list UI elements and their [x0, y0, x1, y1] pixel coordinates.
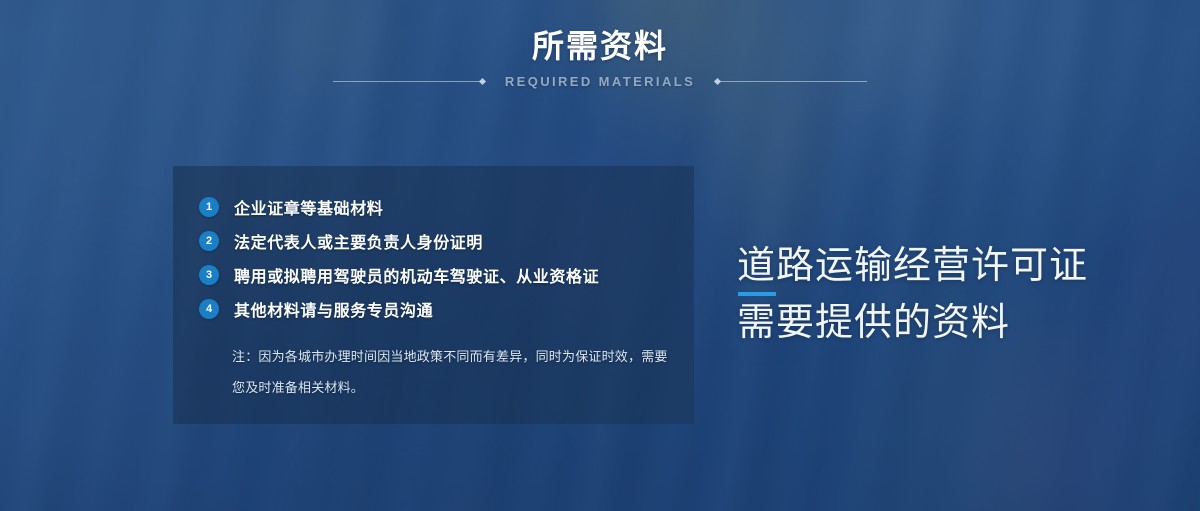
list-item: 1 企业证章等基础材料	[199, 190, 668, 224]
right-heading-line-1: 道路运输经营许可证	[737, 243, 1088, 289]
materials-panel: 1 企业证章等基础材料 2 法定代表人或主要负责人身份证明 3 聘用或拟聘用驾驶…	[173, 166, 694, 424]
list-number-badge: 3	[199, 265, 219, 285]
header-rule-right-dot	[714, 78, 721, 85]
header-rule-right	[715, 81, 867, 82]
right-heading-block: 道路运输经营许可证 需要提供的资料	[737, 243, 1088, 346]
list-item-label: 法定代表人或主要负责人身份证明	[234, 229, 483, 253]
list-number-badge: 2	[199, 231, 219, 251]
panel-note: 注：因为各城市办理时间因当地政策不同而有差异，同时为保证时效，需要您及时准备相关…	[232, 341, 680, 403]
list-item-label: 企业证章等基础材料	[234, 195, 383, 219]
list-number-badge: 1	[199, 197, 219, 217]
list-item: 4 其他材料请与服务专员沟通	[199, 292, 668, 326]
right-heading-accent-bar	[738, 292, 776, 296]
list-item-label: 其他材料请与服务专员沟通	[234, 297, 433, 321]
header-rule-left	[333, 81, 485, 82]
required-materials-banner: 所需资料 REQUIRED MATERIALS 1 企业证章等基础材料 2 法定…	[0, 0, 1200, 511]
page-title: 所需资料	[0, 0, 1200, 65]
right-heading-line-2: 需要提供的资料	[737, 300, 1088, 346]
list-item: 2 法定代表人或主要负责人身份证明	[199, 224, 668, 258]
list-item: 3 聘用或拟聘用驾驶员的机动车驾驶证、从业资格证	[199, 258, 668, 292]
list-number-badge: 4	[199, 299, 219, 319]
page-subtitle: REQUIRED MATERIALS	[485, 74, 715, 89]
list-item-label: 聘用或拟聘用驾驶员的机动车驾驶证、从业资格证	[234, 263, 599, 287]
section-header: 所需资料 REQUIRED MATERIALS	[0, 0, 1200, 89]
materials-list: 1 企业证章等基础材料 2 法定代表人或主要负责人身份证明 3 聘用或拟聘用驾驶…	[199, 190, 668, 326]
subtitle-row: REQUIRED MATERIALS	[0, 74, 1200, 89]
